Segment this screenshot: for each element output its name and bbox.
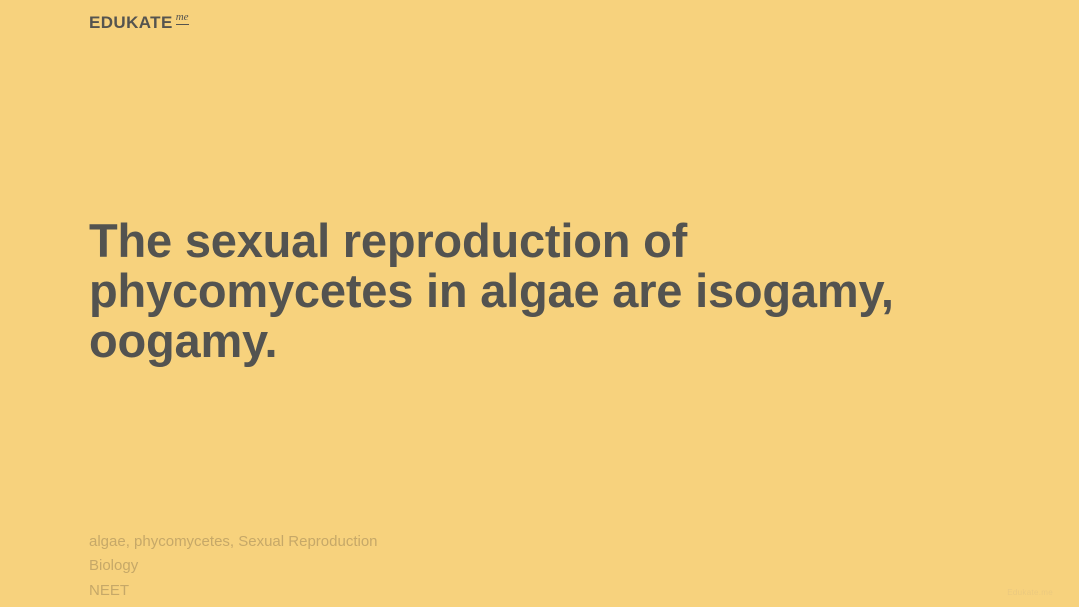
corner-watermark: Edukate.me: [1007, 588, 1053, 597]
brand-logo-suffix: me: [176, 12, 189, 25]
slide-metadata: algae, phycomycetes, Sexual Reproduction…: [89, 530, 378, 604]
metadata-exam: NEET: [89, 579, 378, 604]
brand-logo-name: EDUKATE: [89, 14, 173, 31]
page-title: The sexual reproduction of phycomycetes …: [89, 216, 1019, 366]
metadata-subject: Biology: [89, 554, 378, 579]
metadata-tags: algae, phycomycetes, Sexual Reproduction: [89, 530, 378, 555]
brand-logo[interactable]: EDUKATE me: [89, 14, 189, 31]
slide-canvas: EDUKATE me The sexual reproduction of ph…: [0, 0, 1079, 607]
